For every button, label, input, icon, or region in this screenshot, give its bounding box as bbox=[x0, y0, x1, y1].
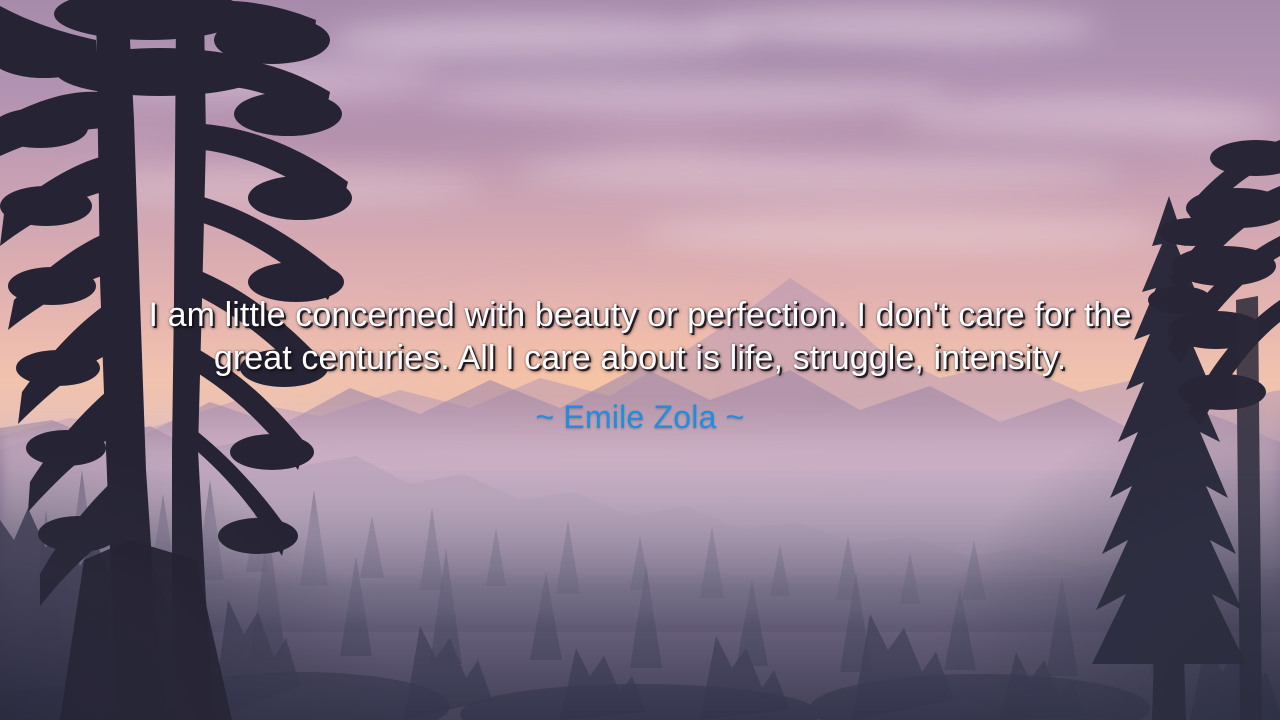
quote-overlay: I am little concerned with beauty or per… bbox=[0, 0, 1280, 720]
quote-text: I am little concerned with beauty or per… bbox=[117, 294, 1163, 380]
quote-image-card: I am little concerned with beauty or per… bbox=[0, 0, 1280, 720]
quote-author: ~ Emile Zola ~ bbox=[535, 398, 744, 436]
